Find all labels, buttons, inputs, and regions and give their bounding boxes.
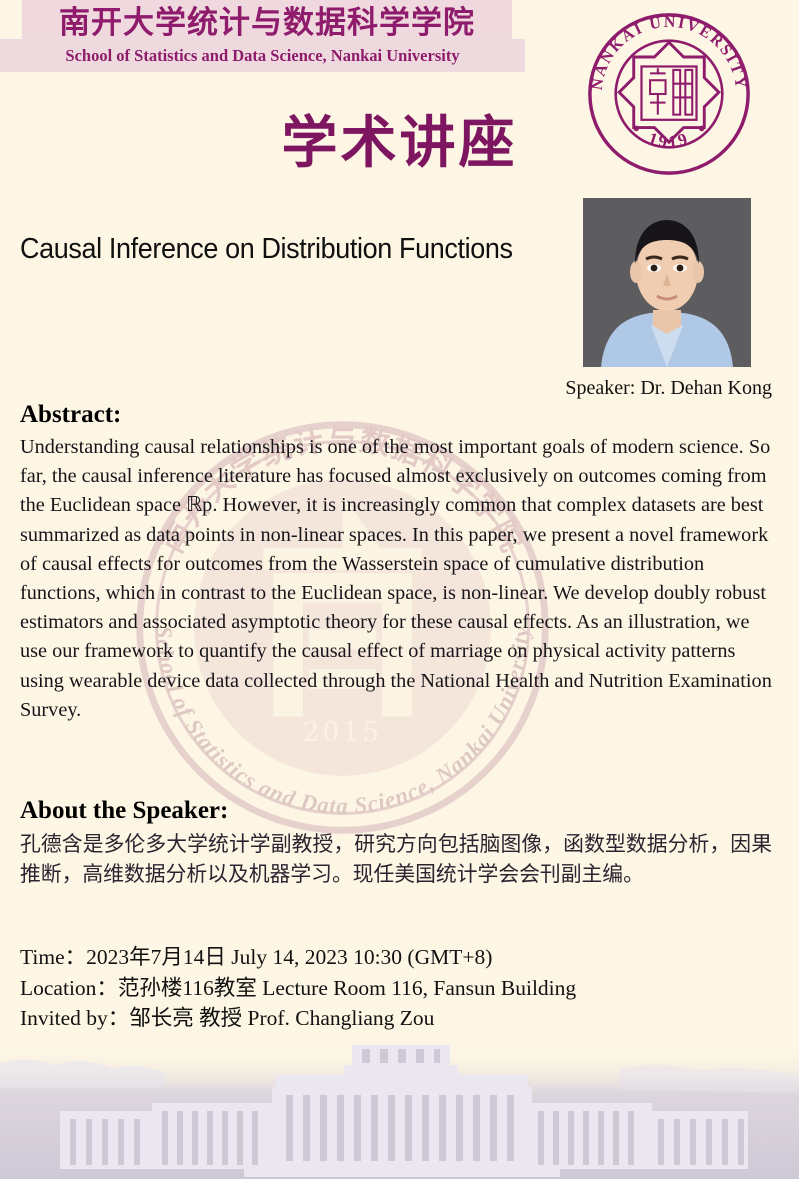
- nankai-seal-icon: NANKAI UNIVERSITY 1919: [583, 8, 755, 180]
- about-speaker-bio: 孔德含是多伦多大学统计学副教授，研究方向包括脑图像，函数型数据分析，因果推断，高…: [20, 829, 772, 889]
- about-speaker-heading: About the Speaker:: [20, 797, 228, 825]
- campus-building-silhouette: [0, 1029, 799, 1179]
- speaker-portrait-image: [583, 198, 751, 367]
- abstract-heading: Abstract:: [20, 401, 121, 429]
- poster-canvas: 2015 南开大学统计与数据科学学院 School of Statistics …: [0, 0, 799, 1179]
- header-banner: 南开大学统计与数据科学学院 School of Statistics and D…: [0, 0, 560, 74]
- event-location: Location：范孙楼116教室 Lecture Room 116, Fans…: [20, 973, 780, 1004]
- event-details: Time：2023年7月14日 July 14, 2023 10:30 (GMT…: [20, 942, 780, 1034]
- talk-title: Causal Inference on Distribution Functio…: [20, 232, 527, 266]
- event-invited-by: Invited by：邹长亮 教授 Prof. Changliang Zou: [20, 1003, 780, 1034]
- school-name-en: School of Statistics and Data Science, N…: [0, 39, 525, 72]
- event-time: Time：2023年7月14日 July 14, 2023 10:30 (GMT…: [20, 942, 780, 973]
- abstract-paragraph: Understanding causal relationships is on…: [20, 433, 772, 725]
- school-name-cn: 南开大学统计与数据科学学院: [22, 0, 512, 41]
- speaker-photo: [580, 195, 754, 370]
- speaker-name-line: Speaker: Dr. Dehan Kong: [460, 377, 772, 400]
- svg-text:NANKAI UNIVERSITY: NANKAI UNIVERSITY: [589, 14, 749, 91]
- abstract-body: Understanding causal relationships is on…: [20, 433, 772, 725]
